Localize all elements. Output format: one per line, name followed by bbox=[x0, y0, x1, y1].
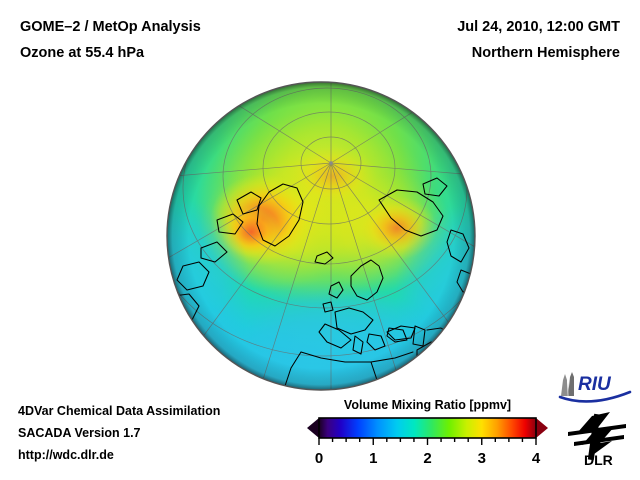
colorbar-tick-label: 0 bbox=[315, 450, 323, 467]
colorbar-title: Volume Mixing Ratio [ppmv] bbox=[305, 398, 550, 412]
colorbar-tick-label: 1 bbox=[369, 450, 377, 467]
valid-datetime: Jul 24, 2010, 12:00 GMT bbox=[457, 14, 620, 40]
riu-tower-icon bbox=[561, 372, 574, 396]
globe-map bbox=[165, 80, 477, 392]
analysis-subtitle: Ozone at 55.4 hPa bbox=[20, 40, 201, 66]
colorbar-legend: Volume Mixing Ratio [ppmv] 01234 bbox=[305, 398, 550, 468]
header-right: Jul 24, 2010, 12:00 GMT Northern Hemisph… bbox=[457, 14, 620, 66]
riu-logo: RIU bbox=[556, 370, 634, 406]
hemisphere-label: Northern Hemisphere bbox=[457, 40, 620, 66]
colorbar-gradient bbox=[319, 418, 536, 438]
colorbar-extend-low bbox=[307, 418, 319, 438]
header-left: GOME–2 / MetOp Analysis Ozone at 55.4 hP… bbox=[20, 14, 201, 66]
colorbar-tick-label: 3 bbox=[478, 450, 486, 467]
ozone-analysis-figure: GOME–2 / MetOp Analysis Ozone at 55.4 hP… bbox=[0, 0, 640, 480]
colorbar-tick-labels: 01234 bbox=[315, 450, 541, 467]
colorbar-tick-label: 2 bbox=[423, 450, 431, 467]
dlr-logo: DLR bbox=[566, 410, 628, 468]
colorbar-ticks bbox=[319, 438, 536, 445]
dlr-wordmark: DLR bbox=[584, 452, 613, 468]
colorbar-extend-high bbox=[536, 418, 548, 438]
north-pole-marker bbox=[329, 161, 333, 165]
footer-credits: 4DVar Chemical Data Assimilation SACADA … bbox=[18, 400, 220, 466]
orthographic-projection bbox=[165, 80, 477, 392]
analysis-title: GOME–2 / MetOp Analysis bbox=[20, 14, 201, 40]
limb-shading bbox=[167, 82, 475, 390]
method-label: 4DVar Chemical Data Assimilation bbox=[18, 400, 220, 422]
colorbar-svg: 01234 bbox=[305, 416, 550, 468]
dlr-logo-svg: DLR bbox=[566, 410, 628, 468]
colorbar-tick-label: 4 bbox=[532, 450, 541, 467]
riu-logo-svg: RIU bbox=[556, 370, 634, 406]
wdc-url[interactable]: http://wdc.dlr.de bbox=[18, 444, 220, 466]
version-label: SACADA Version 1.7 bbox=[18, 422, 220, 444]
riu-wordmark: RIU bbox=[578, 374, 612, 395]
